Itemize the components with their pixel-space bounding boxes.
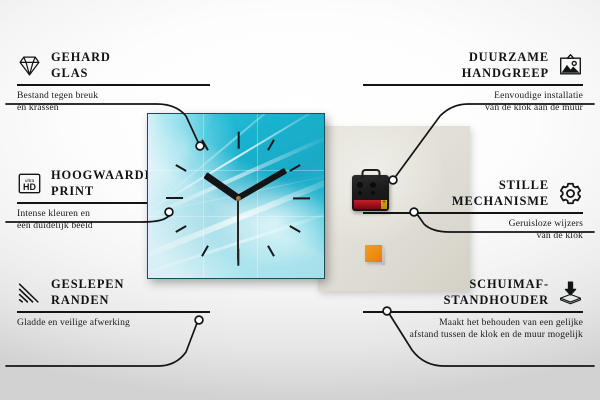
feature-header: GESLEPEN RANDEN bbox=[17, 277, 237, 308]
battery bbox=[354, 200, 387, 209]
feature-description-line2: van de klok bbox=[363, 230, 583, 242]
mechanism-detail bbox=[356, 181, 384, 195]
feature-header: STILLE MECHANISME bbox=[363, 178, 583, 209]
feature-title: STILLE MECHANISME bbox=[452, 178, 549, 209]
pattern-streak bbox=[147, 170, 325, 268]
feature-divider bbox=[363, 84, 583, 86]
mechanism-hanger-icon bbox=[361, 169, 380, 178]
glass-pane-line bbox=[148, 170, 324, 171]
feature-description-line2: afstand tussen de klok en de muur mogeli… bbox=[363, 329, 583, 341]
feature-header: DUURZAME HANDGREEP bbox=[363, 50, 583, 81]
feature-description-line2: van de klok aan de muur bbox=[363, 102, 583, 114]
feature-divider bbox=[363, 311, 583, 313]
clock-second-hand bbox=[237, 198, 239, 260]
clock-tick bbox=[267, 245, 275, 256]
feature-divider bbox=[363, 212, 583, 214]
clock-tick bbox=[166, 197, 183, 199]
foam-spacer bbox=[365, 245, 382, 262]
feature-stille-mechanisme: STILLE MECHANISME Geruisloze wijzers van… bbox=[363, 178, 583, 242]
diamond-icon bbox=[17, 53, 42, 78]
clock-tick bbox=[237, 131, 239, 148]
feature-header: SCHUIMAF- STANDHOUDER bbox=[363, 277, 583, 308]
clock-mechanism bbox=[352, 175, 389, 211]
bevelled-edges-icon bbox=[17, 280, 42, 305]
clock-center-pin bbox=[236, 196, 241, 201]
infographic-canvas: GEHARD GLAS Bestand tegen breuk en krass… bbox=[0, 0, 600, 400]
feature-description-line1: Eenvoudige installatie bbox=[363, 90, 583, 102]
feature-description-line1: Bestand tegen breuk bbox=[17, 90, 237, 102]
feature-divider bbox=[17, 84, 210, 86]
clock-tick bbox=[267, 139, 275, 150]
feature-gehard-glas: GEHARD GLAS Bestand tegen breuk en krass… bbox=[17, 50, 237, 114]
feature-title: GEHARD GLAS bbox=[51, 50, 111, 81]
glass-pane-line bbox=[257, 114, 258, 278]
feature-schuimafstandhouder: SCHUIMAF- STANDHOUDER Maakt het behouden… bbox=[363, 277, 583, 341]
feature-header: GEHARD GLAS bbox=[17, 50, 237, 81]
feature-title: GESLEPEN RANDEN bbox=[51, 277, 124, 308]
feature-description-line1: Gladde en veilige afwerking bbox=[17, 317, 237, 329]
feature-divider bbox=[17, 311, 210, 313]
feature-title: SCHUIMAF- STANDHOUDER bbox=[444, 277, 549, 308]
gear-icon bbox=[558, 181, 583, 206]
clock-tick bbox=[175, 225, 186, 233]
glass-pane-line bbox=[148, 216, 324, 217]
pattern-streak bbox=[147, 134, 325, 224]
ultra-hd-icon: ultra HD bbox=[17, 171, 42, 196]
feature-duurzame-handgreep: DUURZAME HANDGREEP Eenvoudige installati… bbox=[363, 50, 583, 114]
feature-geslepen-randen: GESLEPEN RANDEN Gladde en veilige afwerk… bbox=[17, 277, 237, 329]
battery-plus-terminal bbox=[381, 200, 387, 209]
picture-frame-icon bbox=[558, 53, 583, 78]
clock-glass-face bbox=[147, 113, 325, 279]
clock-tick bbox=[293, 197, 310, 199]
feature-description-line1: Geruisloze wijzers bbox=[363, 218, 583, 230]
feature-title: DUURZAME HANDGREEP bbox=[462, 50, 549, 81]
press-down-pad-icon bbox=[558, 280, 583, 305]
svg-text:HD: HD bbox=[23, 182, 36, 192]
feature-description-line1: Maakt het behouden van een gelijke bbox=[363, 317, 583, 329]
